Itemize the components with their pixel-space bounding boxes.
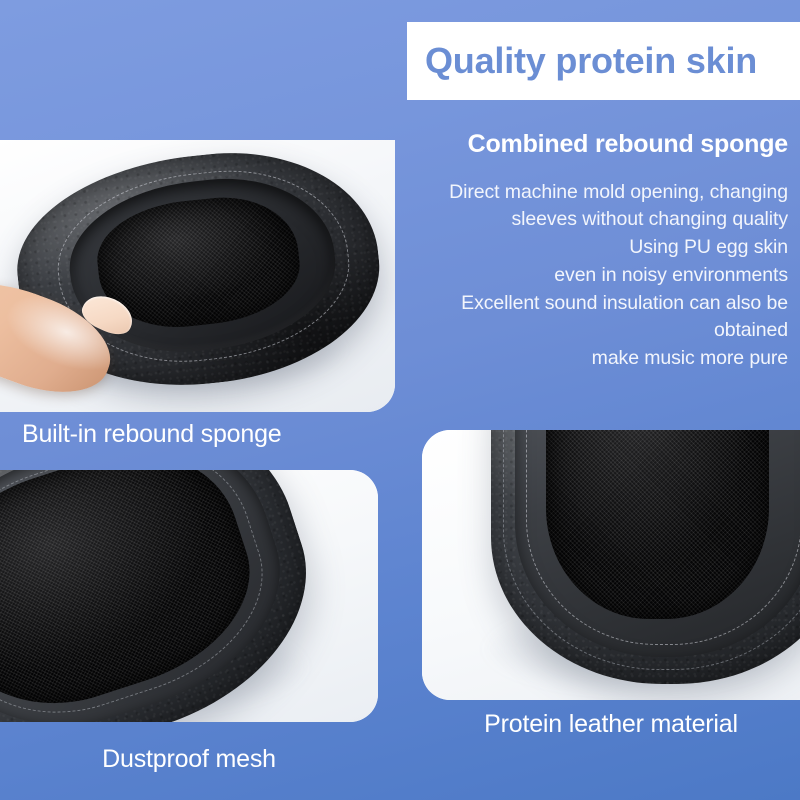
caption-protein-leather-material: Protein leather material	[422, 710, 800, 739]
copy-line: Direct machine mold opening, changing	[404, 179, 788, 207]
copy-line: obtained	[404, 317, 788, 345]
copy-subheading: Combined rebound sponge	[404, 130, 788, 159]
copy-line: Using PU egg skin	[404, 234, 788, 262]
earpad-finger-press-illustration	[0, 140, 395, 412]
caption-built-in-rebound-sponge: Built-in rebound sponge	[22, 420, 281, 449]
copy-line: even in noisy environments	[404, 262, 788, 290]
photo-built-in-rebound-sponge	[0, 140, 395, 412]
title-banner: Quality protein skin	[407, 22, 800, 100]
earpad-mesh-illustration	[0, 470, 378, 722]
photo-dustproof-mesh	[0, 470, 378, 722]
copy-line: make music more pure	[404, 345, 788, 373]
caption-dustproof-mesh: Dustproof mesh	[0, 745, 378, 774]
product-feature-poster: Quality protein skin Combined rebound sp…	[0, 0, 800, 800]
feature-copy-block: Combined rebound sponge Direct machine m…	[404, 130, 796, 373]
photo-protein-leather-material	[422, 430, 800, 700]
earpad-leather-illustration	[422, 430, 800, 700]
page-title: Quality protein skin	[425, 40, 757, 82]
copy-line: sleeves without changing quality	[404, 206, 788, 234]
copy-line: Excellent sound insulation can also be	[404, 290, 788, 318]
